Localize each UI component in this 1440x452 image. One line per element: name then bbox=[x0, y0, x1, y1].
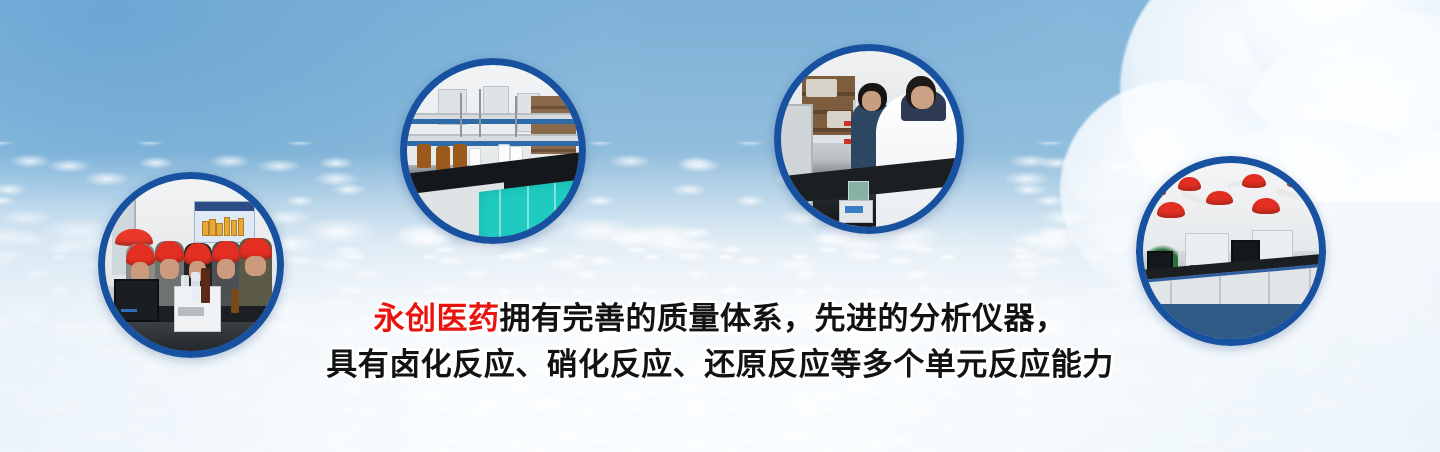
photo-image-laboratory-bench bbox=[407, 65, 579, 237]
photo-circle-laboratory-bench[interactable] bbox=[400, 58, 586, 244]
hero-banner: 永创医药拥有完善的质量体系，先进的分析仪器， 具有卤化反应、硝化反应、还原反应等… bbox=[0, 0, 1440, 452]
headline-line-1: 永创医药拥有完善的质量体系，先进的分析仪器， bbox=[0, 296, 1440, 342]
photo-circle-chemists-titration[interactable] bbox=[774, 44, 964, 234]
headline: 永创医药拥有完善的质量体系，先进的分析仪器， 具有卤化反应、硝化反应、还原反应等… bbox=[0, 296, 1440, 388]
headline-company-name: 永创医药 bbox=[374, 301, 500, 337]
headline-line-1-text: 拥有完善的质量体系，先进的分析仪器， bbox=[500, 301, 1067, 337]
photo-image-chemists-titration bbox=[781, 51, 957, 227]
headline-line-2: 具有卤化反应、硝化反应、还原反应等多个单元反应能力 bbox=[0, 342, 1440, 388]
